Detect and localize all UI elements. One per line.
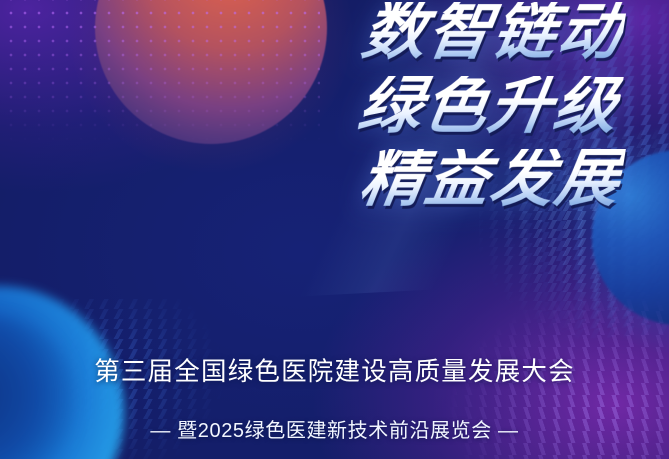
headline-line-3: 精益发展 (354, 149, 626, 211)
conference-title: 第三届全国绿色医院建设高质量发展大会 (0, 351, 669, 388)
headline-block: 数智链动 绿色升级 精益发展 (359, 2, 623, 211)
coral-sphere (95, 0, 327, 144)
subtitle-block: 第三届全国绿色医院建设高质量发展大会 — 暨2025绿色医建新技术前沿展览会 — (0, 351, 669, 443)
conference-poster: 数智链动 绿色升级 精益发展 第三届全国绿色医院建设高质量发展大会 — 暨202… (0, 0, 669, 459)
headline-line-2: 绿色升级 (354, 76, 624, 138)
purple-dot-matrix (0, 0, 320, 142)
exhibition-subtitle: — 暨2025绿色医建新技术前沿展览会 — (0, 414, 669, 443)
coral-sphere-glow (70, 0, 352, 172)
headline-line-1: 数智链动 (354, 2, 628, 64)
